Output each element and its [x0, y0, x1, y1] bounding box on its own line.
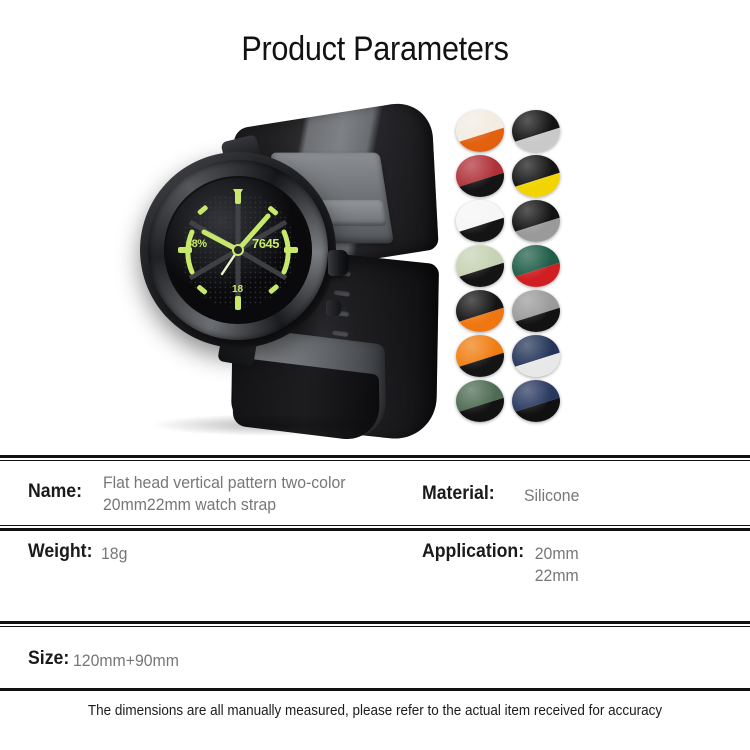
- watch-assembly: 68% 7645 18: [128, 104, 448, 434]
- color-swatch-orange-cream[interactable]: [456, 110, 504, 152]
- watch-pusher: [326, 300, 341, 316]
- swatch-gloss: [512, 200, 560, 242]
- spec-label-name: Name:: [28, 481, 82, 503]
- swatch-gloss: [512, 290, 560, 332]
- swatch-gloss: [456, 200, 504, 242]
- spec-divider-3-thick: [0, 621, 750, 624]
- page-title: Product Parameters: [38, 30, 713, 69]
- spec-label-application: Application:: [422, 541, 524, 563]
- swatch-gloss: [456, 245, 504, 287]
- spec-divider-3-thin: [0, 626, 750, 627]
- spec-value-material: Silicone: [524, 485, 579, 507]
- color-swatch-black-yellow[interactable]: [512, 155, 560, 197]
- watch-steps-value: 7645: [252, 236, 279, 251]
- swatch-gloss: [512, 335, 560, 377]
- product-parameters-page: Product Parameters: [0, 0, 750, 750]
- color-swatch-orange-black[interactable]: [456, 335, 504, 377]
- swatch-gloss: [512, 245, 560, 287]
- spec-value-name: Flat head vertical pattern two-color 20m…: [103, 472, 382, 516]
- watch-battery-value: 68%: [186, 238, 207, 250]
- spec-label-weight: Weight:: [28, 541, 92, 563]
- color-swatch-black-gray[interactable]: [512, 200, 560, 242]
- spec-divider-2-thin: [0, 525, 750, 526]
- swatch-gloss: [456, 290, 504, 332]
- watch-date-value: 18: [232, 284, 243, 295]
- color-swatch-sage-black[interactable]: [456, 245, 504, 287]
- watch-dial: 68% 7645 18: [164, 176, 312, 324]
- color-swatch-green-red[interactable]: [512, 245, 560, 287]
- watch-crown: [328, 250, 348, 276]
- color-swatch-black-silver[interactable]: [512, 110, 560, 152]
- swatch-gloss: [512, 155, 560, 197]
- watch-bezel: 68% 7645 18: [148, 160, 328, 340]
- spec-divider-top-thin: [0, 460, 750, 461]
- color-swatch-navy-white[interactable]: [512, 335, 560, 377]
- color-swatch-white-black[interactable]: [456, 200, 504, 242]
- spec-value-size: 120mm+90mm: [73, 650, 179, 672]
- spec-value-application: 20mm 22mm: [521, 543, 579, 587]
- swatch-gloss: [456, 380, 504, 422]
- swatch-gloss: [456, 155, 504, 197]
- spec-divider-2-thick: [0, 528, 750, 531]
- product-shadow: [150, 414, 390, 436]
- spec-label-size: Size:: [28, 648, 69, 670]
- swatch-gloss: [512, 380, 560, 422]
- spec-value-weight: 18g: [101, 543, 127, 565]
- disclaimer-note: The dimensions are all manually measured…: [26, 703, 724, 719]
- spec-divider-4-thick: [0, 688, 750, 691]
- product-image: 68% 7645 18: [0, 96, 750, 446]
- swatch-gloss: [456, 110, 504, 152]
- spec-label-material: Material:: [422, 483, 495, 505]
- watch-case: 68% 7645 18: [140, 152, 336, 348]
- color-swatch-black-orange[interactable]: [456, 290, 504, 332]
- spec-divider-top-thick: [0, 455, 750, 458]
- swatch-gloss: [456, 335, 504, 377]
- watch-face-graphics: [164, 176, 312, 324]
- color-swatch-grid: [456, 110, 568, 425]
- color-swatch-red-black[interactable]: [456, 155, 504, 197]
- color-swatch-forest-black[interactable]: [456, 380, 504, 422]
- swatch-gloss: [512, 110, 560, 152]
- color-swatch-gray-black[interactable]: [512, 290, 560, 332]
- color-swatch-navy-black[interactable]: [512, 380, 560, 422]
